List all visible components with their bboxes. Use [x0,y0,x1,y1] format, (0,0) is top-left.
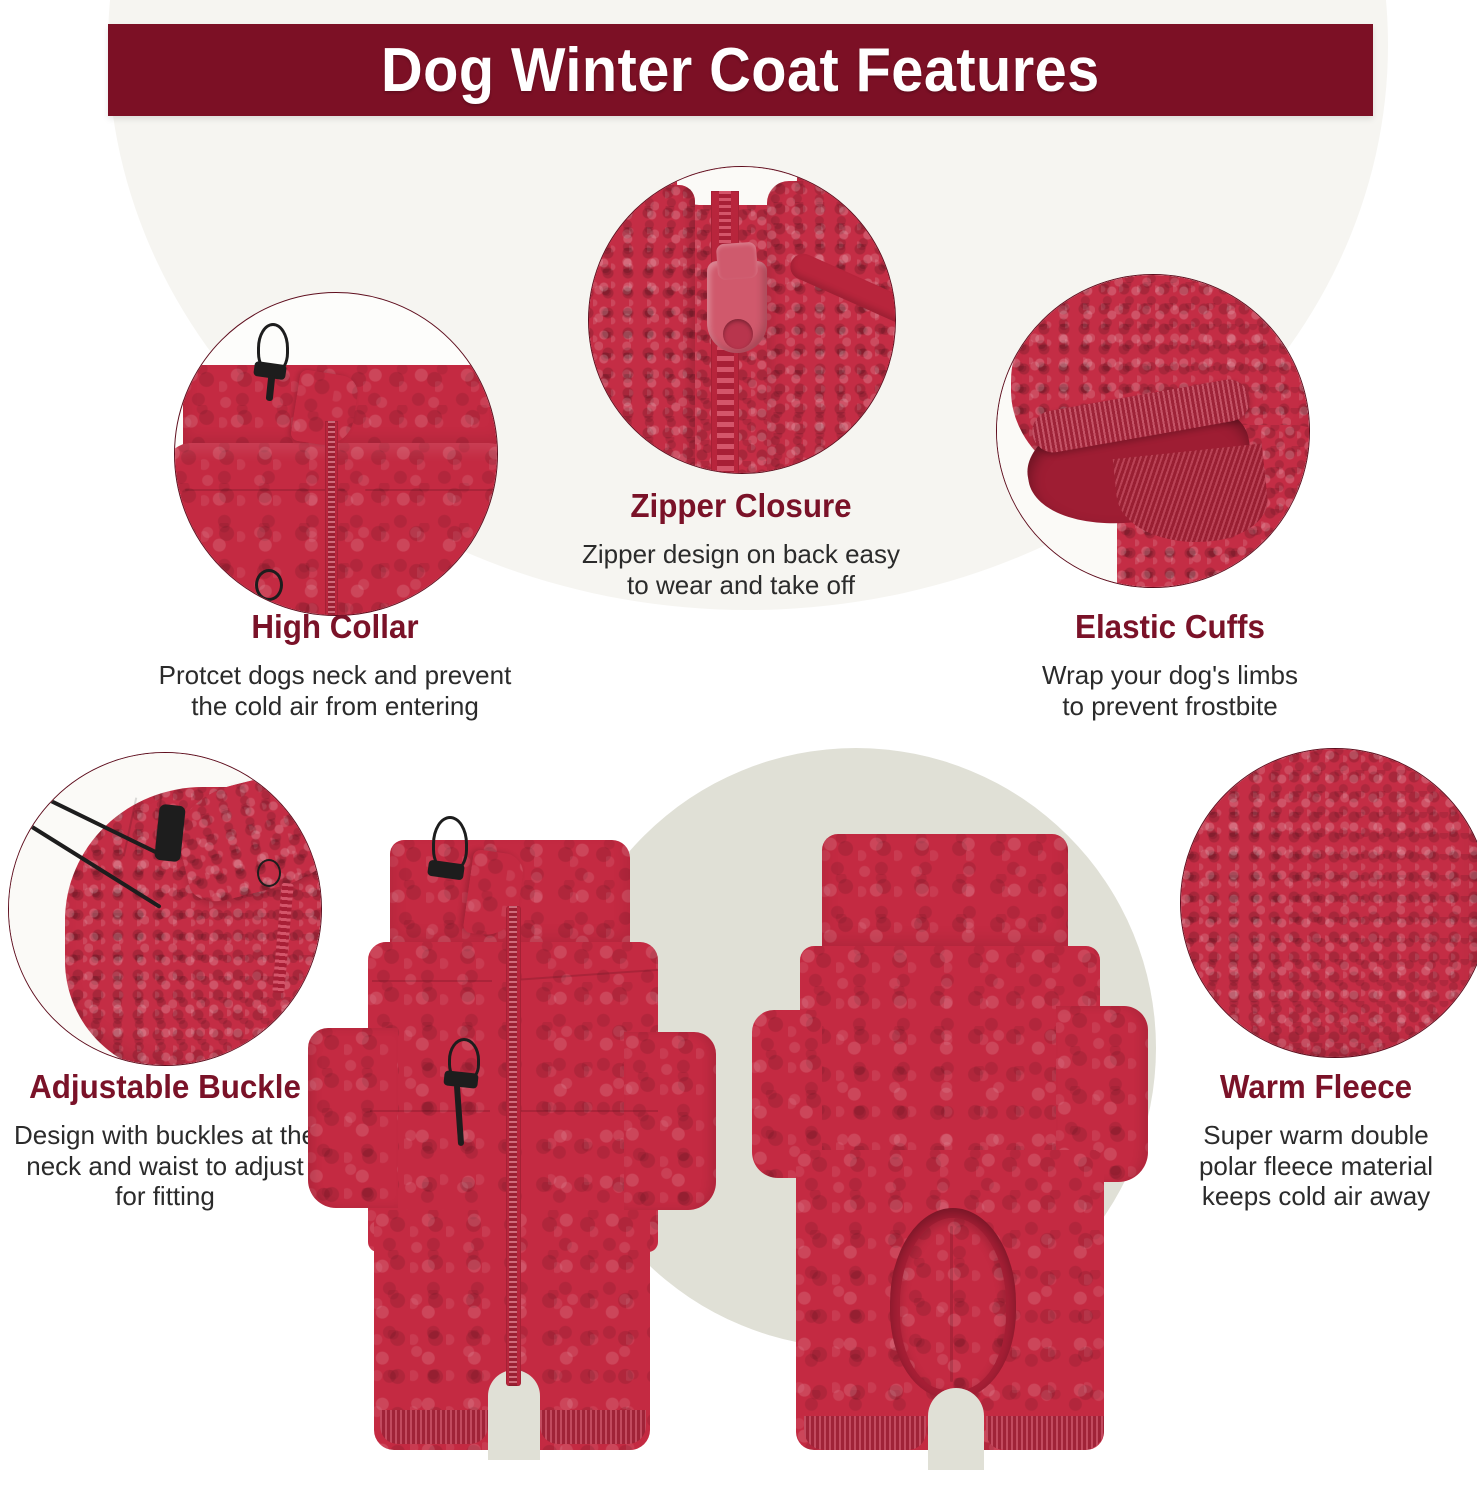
product-front-view [300,810,720,1470]
zipper-closure-photo [588,166,896,474]
elastic-cuffs-title: Elastic Cuffs [971,608,1370,646]
high-collar-description: Protcet dogs neck and prevent the cold a… [104,660,566,721]
high-collar-image [175,293,497,615]
elastic-cuffs-image [997,275,1309,587]
page-title: Dog Winter Coat Features [381,35,1100,106]
adjustable-buckle-image [9,753,321,1065]
high-collar-photo [174,292,498,616]
infographic-canvas: Dog Winter Coat Features High Collar [0,0,1477,1500]
warm-fleece-photo [1180,748,1477,1058]
high-collar-title: High Collar [116,608,555,646]
zipper-closure-title: Zipper Closure [531,487,951,525]
warm-fleece-title: Warm Fleece [1163,1068,1469,1106]
elastic-cuffs-photo [996,274,1310,588]
zipper-closure-text: Zipper Closure Zipper design on back eas… [520,487,962,600]
product-back-view [760,820,1180,1470]
high-collar-text: High Collar Protcet dogs neck and preven… [104,608,566,721]
warm-fleece-text: Warm Fleece Super warm double polar flee… [1155,1068,1477,1212]
page-title-banner: Dog Winter Coat Features [108,24,1373,116]
elastic-cuffs-description: Wrap your dog's limbs to prevent frostbi… [960,660,1380,721]
zipper-closure-description: Zipper design on back easy to wear and t… [520,539,962,600]
zipper-closure-image [589,167,895,473]
adjustable-buckle-description: Design with buckles at the neck and wais… [0,1120,330,1212]
warm-fleece-image [1181,749,1477,1057]
elastic-cuffs-text: Elastic Cuffs Wrap your dog's limbs to p… [960,608,1380,721]
warm-fleece-description: Super warm double polar fleece material … [1155,1120,1477,1212]
adjustable-buckle-photo [8,752,322,1066]
adjustable-buckle-text: Adjustable Buckle Design with buckles at… [0,1068,330,1212]
adjustable-buckle-title: Adjustable Buckle [8,1068,322,1106]
